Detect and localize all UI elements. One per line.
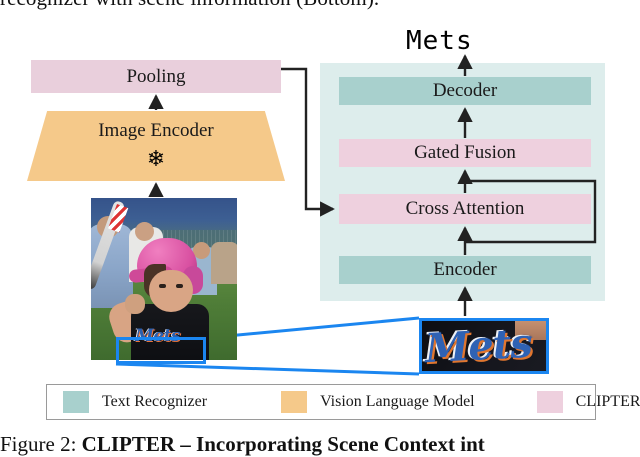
legend-label-text-recognizer: Text Recognizer	[102, 393, 207, 411]
photo-player-eye-right	[176, 284, 183, 288]
snowflake-icon: ❄	[27, 148, 285, 170]
photo-spectator-4	[211, 242, 237, 284]
scene-image: Mets	[91, 198, 237, 360]
image-encoder-label: Image Encoder	[27, 120, 285, 142]
cross-attention-block: Cross Attention	[339, 194, 591, 224]
legend-swatch-clipter	[537, 391, 563, 413]
encoder-block: Encoder	[339, 256, 591, 284]
image-encoder-block: Image Encoder ❄	[27, 111, 285, 181]
legend-label-clipter: CLIPTER	[576, 393, 640, 411]
figure-caption-title: CLIPTER – Incorporating Scene Context in…	[82, 432, 485, 456]
legend-item-clipter: CLIPTER	[537, 391, 640, 413]
legend-label-vision-language-model: Vision Language Model	[320, 393, 475, 411]
legend-swatch-text-recognizer	[63, 391, 89, 413]
body-text-fragment: recognizer with scene information (Botto…	[0, 0, 640, 11]
photo-player-hand	[125, 294, 145, 314]
photo-player-eye-left	[159, 284, 166, 288]
pooling-block: Pooling	[31, 60, 281, 93]
figure-caption: Figure 2: CLIPTER – Incorporating Scene …	[0, 432, 640, 457]
legend-item-text-recognizer: Text Recognizer	[63, 391, 207, 413]
legend-swatch-vision-language-model	[281, 391, 307, 413]
legend: Text Recognizer Vision Language Model CL…	[46, 384, 596, 420]
cropped-word-bounding-box	[419, 318, 549, 374]
text-crop-bounding-box	[116, 337, 206, 364]
photo-spectator-3-head	[193, 242, 210, 259]
decoder-block: Decoder	[339, 77, 591, 105]
figure-caption-prefix: Figure 2:	[0, 432, 82, 456]
photo-player-face	[149, 270, 193, 312]
predicted-output-text: Mets	[406, 26, 473, 56]
gated-fusion-block: Gated Fusion	[339, 139, 591, 167]
legend-item-vision-language-model: Vision Language Model	[281, 391, 475, 413]
